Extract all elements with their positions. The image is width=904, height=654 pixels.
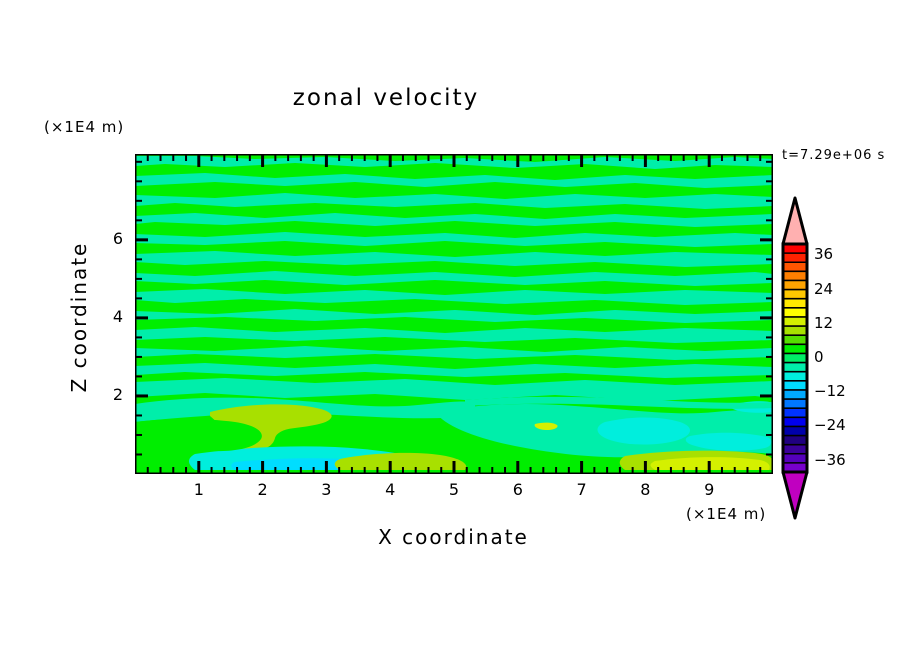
x-tick-label: 7 bbox=[562, 480, 602, 499]
colorbar-band bbox=[783, 326, 807, 336]
colorbar-band bbox=[783, 290, 807, 300]
colorbar-band bbox=[783, 445, 807, 455]
y-tick-label: 6 bbox=[89, 229, 123, 248]
colorbar-over-arrow bbox=[783, 198, 807, 244]
colorbar-band bbox=[783, 262, 807, 272]
y-unit-label: (×1E4 m) bbox=[44, 118, 124, 136]
x-tick-label: 3 bbox=[306, 480, 346, 499]
time-annotation: t=7.29e+06 s bbox=[782, 148, 885, 163]
colorbar-band bbox=[783, 299, 807, 309]
x-tick-label: 8 bbox=[625, 480, 665, 499]
colorbar-tick-label: 0 bbox=[814, 348, 824, 366]
page-title: zonal velocity bbox=[0, 85, 772, 111]
colorbar-band bbox=[783, 280, 807, 290]
colorbar-tick-label: 12 bbox=[814, 314, 833, 332]
colorbar bbox=[778, 196, 812, 520]
contour-plot bbox=[135, 154, 773, 474]
colorbar-band bbox=[783, 317, 807, 327]
colorbar-band bbox=[783, 390, 807, 400]
colorbar-tick-label: −12 bbox=[814, 382, 846, 400]
colorbar-band bbox=[783, 363, 807, 373]
colorbar-band bbox=[783, 271, 807, 281]
figure-canvas: zonal velocity (×1E4 m) (×1E4 m) t=7.29e… bbox=[0, 0, 904, 654]
contour-field bbox=[135, 154, 773, 474]
x-tick-label: 6 bbox=[498, 480, 538, 499]
x-tick-label: 9 bbox=[689, 480, 729, 499]
colorbar-band bbox=[783, 436, 807, 446]
y-axis-title: Z coordinate bbox=[67, 202, 91, 432]
colorbar-tick-label: −36 bbox=[814, 451, 846, 469]
colorbar-band bbox=[783, 454, 807, 464]
colorbar-band bbox=[783, 372, 807, 382]
y-tick-label: 4 bbox=[89, 307, 123, 326]
colorbar-band bbox=[783, 253, 807, 263]
x-tick-label: 1 bbox=[179, 480, 219, 499]
colorbar-band bbox=[783, 408, 807, 418]
y-tick-label: 2 bbox=[89, 385, 123, 404]
colorbar-band bbox=[783, 399, 807, 409]
colorbar-under-arrow bbox=[783, 472, 807, 518]
colorbar-tick-label: 36 bbox=[814, 245, 833, 263]
colorbar-tick-label: −24 bbox=[814, 416, 846, 434]
colorbar-band bbox=[783, 417, 807, 427]
x-unit-label: (×1E4 m) bbox=[686, 505, 766, 523]
colorbar-band bbox=[783, 381, 807, 391]
x-tick-label: 2 bbox=[243, 480, 283, 499]
colorbar-band bbox=[783, 335, 807, 345]
x-axis-title: X coordinate bbox=[135, 525, 772, 549]
x-tick-label: 5 bbox=[434, 480, 474, 499]
colorbar-scale bbox=[778, 196, 812, 520]
colorbar-band bbox=[783, 353, 807, 363]
colorbar-tick-label: 24 bbox=[814, 280, 833, 298]
x-tick-label: 4 bbox=[370, 480, 410, 499]
colorbar-band bbox=[783, 426, 807, 436]
colorbar-band bbox=[783, 344, 807, 354]
colorbar-band bbox=[783, 308, 807, 318]
